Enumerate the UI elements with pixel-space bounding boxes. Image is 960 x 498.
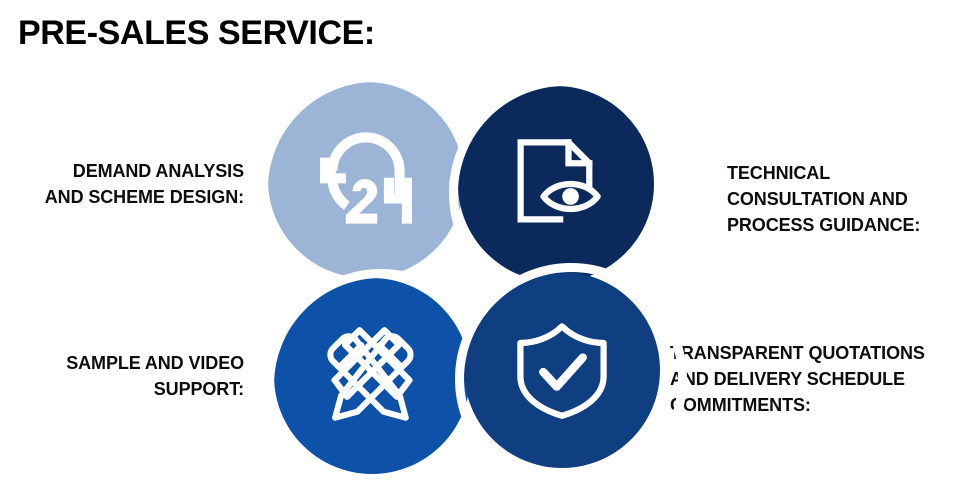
shield-check-icon <box>510 318 614 422</box>
label-line: TRANSPARENT QUOTATIONS <box>670 340 960 366</box>
label-line: TECHNICAL <box>727 160 957 186</box>
label-technical-consultation: TECHNICAL CONSULTATION AND PROCESS GUIDA… <box>727 160 957 238</box>
label-line: SUPPORT: <box>0 376 244 402</box>
label-line: AND SCHEME DESIGN: <box>0 184 244 210</box>
crossed-pencils-icon <box>320 324 424 428</box>
label-line: DEMAND ANALYSIS <box>0 158 244 184</box>
infographic-root: PRE-SALES SERVICE: <box>0 0 960 498</box>
label-line: PROCESS GUIDANCE: <box>727 212 957 238</box>
circle-cluster <box>268 82 668 488</box>
page-title: PRE-SALES SERVICE: <box>18 12 375 54</box>
label-transparent-quotations: TRANSPARENT QUOTATIONS AND DELIVERY SCHE… <box>670 340 960 418</box>
label-demand-analysis: DEMAND ANALYSIS AND SCHEME DESIGN: <box>0 158 244 210</box>
bubble-transparent-quotations[interactable] <box>464 272 660 468</box>
document-eye-review-icon <box>504 132 608 236</box>
label-line: AND DELIVERY SCHEDULE <box>670 366 960 392</box>
clock-24-hour-rotate-icon <box>310 124 422 236</box>
bubble-sample-video-support[interactable] <box>274 278 470 474</box>
label-sample-video-support: SAMPLE AND VIDEO SUPPORT: <box>0 350 244 402</box>
label-line: SAMPLE AND VIDEO <box>0 350 244 376</box>
bubble-technical-consultation[interactable] <box>458 86 654 282</box>
label-line: CONSULTATION AND <box>727 186 957 212</box>
bubble-demand-analysis[interactable] <box>268 82 464 278</box>
label-line: COMMITMENTS: <box>670 392 960 418</box>
